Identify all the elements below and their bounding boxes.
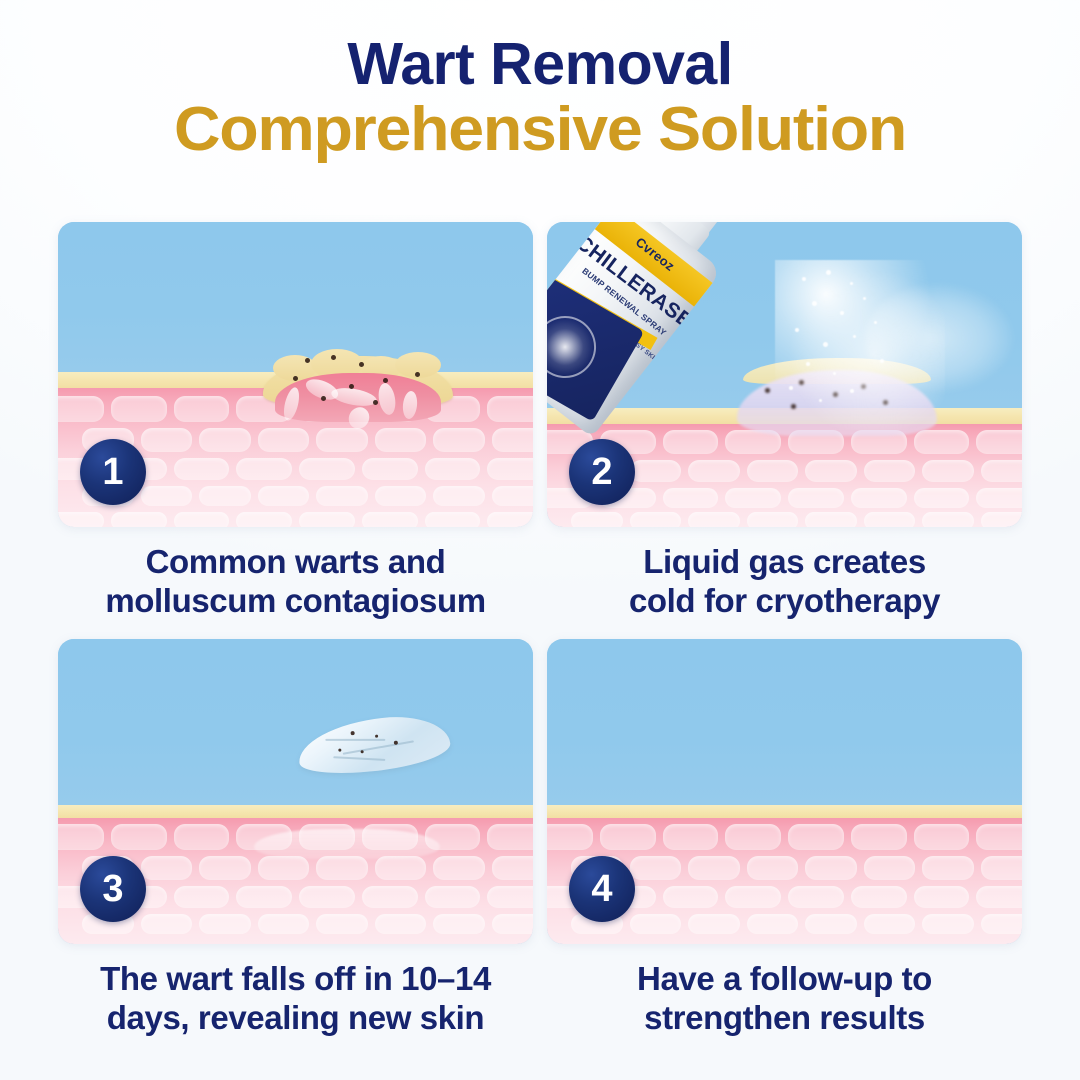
step-caption-2: Liquid gas creates cold for cryotherapy [547,543,1022,621]
step-cell-1: 1 Common warts and molluscum contagiosum [58,222,533,621]
stratum-corneum-layer [547,805,1022,818]
step-badge-2: 2 [569,439,635,505]
step-illustration-4: 4 [547,639,1022,944]
step-caption-1: Common warts and molluscum contagiosum [58,543,533,621]
step-badge-4: 4 [569,856,635,922]
steps-grid: 1 Common warts and molluscum contagiosum [58,222,1022,1038]
step-cell-4: 4 Have a follow-up to strengthen results [547,639,1022,1038]
page-title-line1: Wart Removal [0,34,1080,95]
stratum-corneum-layer [58,805,533,818]
step-cell-2: Cvreoz CHILLERASE BUMP RENEWAL SPRAY • F… [547,222,1022,621]
wart-dermal-core [275,373,441,422]
page-title-line2: Comprehensive Solution [0,97,1080,163]
background-sky [58,639,533,805]
page-header: Wart Removal Comprehensive Solution [0,0,1080,163]
wart-lesion [263,356,453,408]
background-sky [547,639,1022,805]
step-cell-3: 3 The wart falls off in 10–14 days, reve… [58,639,533,1038]
spray-can-body: Cvreoz CHILLERASE BUMP RENEWAL SPRAY • F… [547,222,722,437]
step-illustration-2: Cvreoz CHILLERASE BUMP RENEWAL SPRAY • F… [547,222,1022,527]
step-badge-1: 1 [80,439,146,505]
step-caption-4: Have a follow-up to strengthen results [547,960,1022,1038]
new-skin-area [254,829,440,859]
step-caption-3: The wart falls off in 10–14 days, reveal… [58,960,533,1038]
step-illustration-1: 1 [58,222,533,527]
step-badge-3: 3 [80,856,146,922]
step-illustration-3: 3 [58,639,533,944]
